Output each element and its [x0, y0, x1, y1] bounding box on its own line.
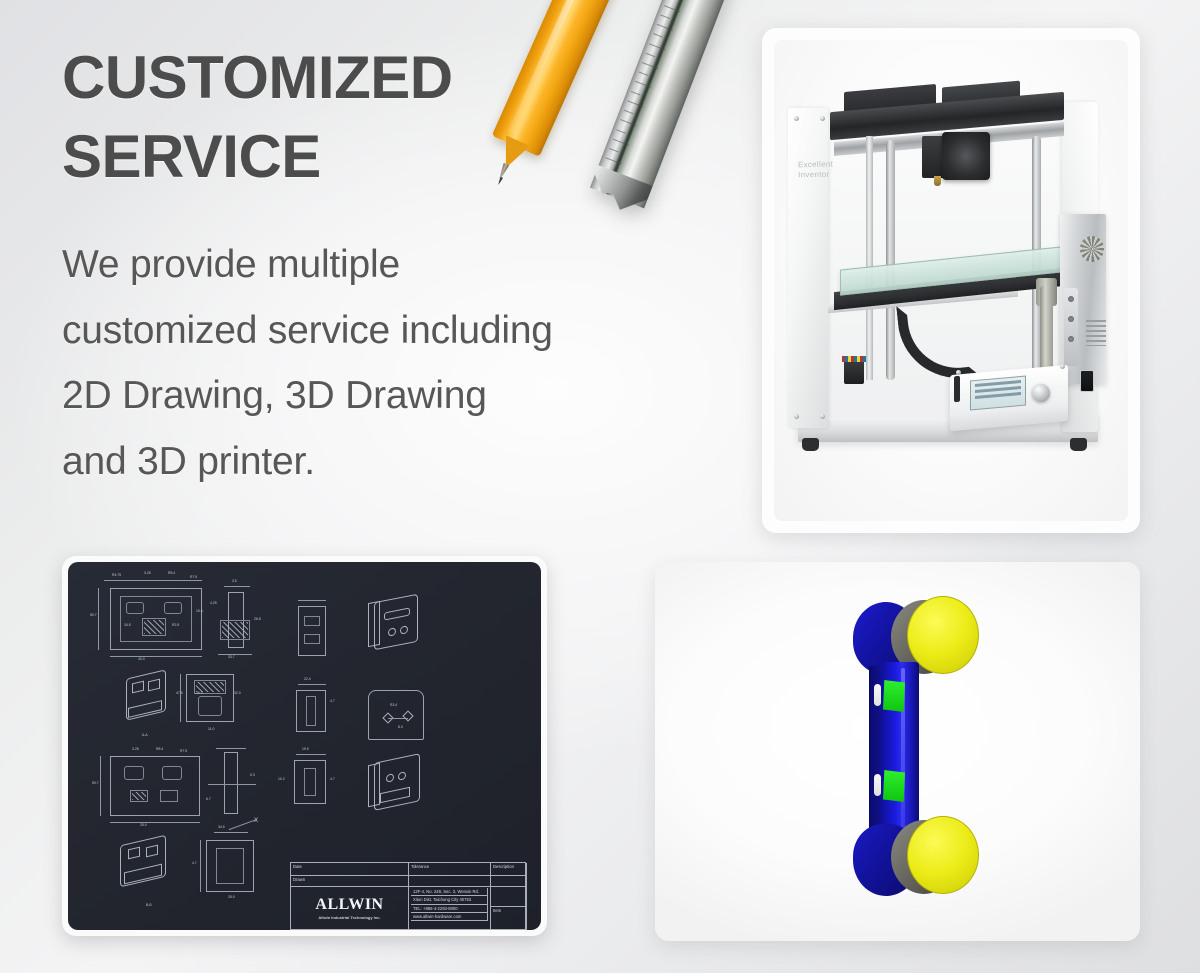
printer-screw	[1060, 364, 1065, 369]
cad-dim-text: R2.5	[172, 624, 179, 627]
cad-dim-text: 34.5	[218, 826, 225, 829]
cad-dim-text: R5.4	[156, 748, 163, 751]
body-line-4: and 3D printer.	[62, 429, 752, 495]
cad-dim-text: 5.3	[250, 774, 255, 777]
printer-extrusion-left	[866, 136, 873, 380]
cad-axis-line	[229, 819, 258, 830]
printer-nozzle	[934, 176, 941, 186]
power-switch-icon[interactable]	[1080, 370, 1094, 392]
cad-sheet: R4.75 3.25 R5.4 R7.5 50.7 34.5 R2.5 40.0…	[68, 562, 541, 930]
cad-iso-face	[368, 763, 380, 808]
cad-view-front	[110, 756, 200, 816]
cad-dim-line	[100, 756, 101, 816]
printer-screw	[956, 370, 961, 375]
printer-cooling-fan	[942, 132, 990, 180]
cad-dim-text: 11.0	[208, 728, 214, 731]
cad-slot	[304, 768, 316, 796]
part-clip-green-bottom	[883, 770, 905, 802]
part-slot-top	[874, 684, 881, 706]
cad-detail	[216, 848, 244, 884]
cad-dim-text: 50.7	[90, 614, 97, 617]
fan-grille-icon	[1080, 236, 1104, 262]
cad-dim-text: 34.5	[124, 624, 131, 627]
printer-psu-port	[1068, 316, 1074, 322]
printer-stepper-motor	[844, 360, 864, 384]
cad-dim-line	[180, 674, 181, 722]
cad-dim-text: 33.7	[228, 656, 235, 659]
cad-dim-text: 3.5	[232, 580, 237, 583]
body-line-1: We provide multiple	[62, 232, 752, 298]
cad-dim-text: 3.25	[132, 748, 139, 751]
cad-view-label: A-A	[142, 734, 148, 737]
printer-wiring	[842, 356, 866, 362]
address-line-4: www.allwin-hardware.com	[411, 913, 488, 921]
cad-dim-text: 47.5	[176, 692, 183, 695]
cad-dim-text: R7.5	[180, 750, 187, 753]
cad-detail	[160, 790, 178, 802]
part-clip-green-top	[883, 680, 905, 712]
cad-dim-text: 15.6	[196, 610, 203, 613]
render-3d-card	[655, 562, 1140, 941]
printer-screw	[794, 414, 799, 419]
printer-screw	[820, 116, 825, 121]
cad-dim-line	[388, 718, 408, 719]
cad-dim-text: 22.4	[304, 678, 311, 681]
cad-detail	[198, 696, 222, 716]
cad-dim-text: 4.7	[330, 700, 335, 703]
cad-dim-text: 40.0	[138, 658, 145, 661]
address-line-1: 12F-4, No. 249, Sec. 3, Wenxin Rd.	[411, 888, 488, 896]
titleblock-field-date: Date	[291, 863, 409, 876]
cad-dim-line	[208, 784, 256, 785]
titleblock-blank-2	[491, 876, 527, 887]
titleblock-field-drawn: Drawn	[291, 876, 409, 887]
cad-dim-text: 25.0	[228, 896, 235, 899]
cad-dim-text: R7.5	[190, 576, 197, 579]
printer-vent-slots	[1086, 320, 1106, 346]
cad-pocket	[126, 602, 144, 614]
cad-dim-line	[110, 822, 200, 823]
sd-card-slot-icon[interactable]	[954, 376, 960, 403]
cad-dim-line	[200, 840, 201, 892]
cad-dim-line	[216, 748, 246, 749]
cad-dim-text: R4.75	[112, 574, 121, 577]
cad-dim-text: R3.4	[390, 704, 397, 707]
printer-z-rod-left	[886, 140, 895, 380]
pen-nib	[497, 177, 503, 186]
printer-lcd-screen	[970, 376, 1026, 411]
printer-screw	[820, 414, 825, 419]
body-line-2: customized service including	[62, 298, 752, 364]
cad-dim-text: 6.7	[206, 798, 211, 801]
cad-section-hatch	[132, 792, 146, 800]
cad-dim-text: 26.8	[254, 618, 261, 621]
cad-dim-text: 3.25	[144, 572, 151, 575]
cad-pocket	[164, 602, 182, 614]
titleblock-field-description: Description	[491, 863, 527, 876]
printer-left-panel	[788, 108, 828, 428]
cad-dim-text: 19.5	[302, 748, 309, 751]
cad-dim-text: 8.0	[398, 726, 403, 729]
cad-pocket	[162, 766, 182, 780]
titleblock-blank-3	[491, 887, 527, 907]
printer-photo: Excellent Inventor	[774, 40, 1128, 521]
body-copy: We provide multiple customized service i…	[62, 232, 752, 494]
printer-brand-line-1: Excellent	[798, 160, 832, 171]
cad-dim-line	[218, 654, 252, 655]
cad-view-plan	[298, 606, 326, 656]
cad-dim-text: 4.25	[210, 602, 217, 605]
cad-dim-line	[98, 588, 99, 650]
cad-section-hatch	[222, 622, 248, 638]
cad-dim-line	[298, 600, 326, 601]
cad-slot	[306, 696, 316, 726]
cad-dim-text: 4.7	[330, 778, 335, 781]
part-disc-yellow-bottom	[907, 816, 979, 894]
cad-title-block: Date Tolerance Description Drawn ALLWIN …	[290, 862, 526, 930]
cad-dim-line	[110, 656, 202, 657]
address-line-2: Xitun Dist. Taichung City 40753	[411, 896, 488, 904]
printer-foot-right	[1070, 438, 1087, 451]
customized-service-banner: CUSTOMIZED SERVICE We provide multiple c…	[0, 0, 1200, 973]
printer-foot-left	[802, 438, 819, 451]
cad-dim-line	[224, 586, 250, 587]
cad-dim-line	[104, 580, 202, 581]
printer-psu-port	[1068, 296, 1074, 302]
titleblock-field-item: Item	[491, 907, 527, 930]
cad-dim-text: 25.0	[140, 824, 147, 827]
titleblock-field-tolerance: Tolerance	[409, 863, 491, 876]
body-line-3: 2D Drawing, 3D Drawing	[62, 363, 752, 429]
printer-screw	[794, 116, 799, 121]
cad-view-outline	[368, 690, 424, 740]
cad-dim-text: 4.7	[192, 862, 197, 865]
address-line-3: TEL: +886-4-2293-8000	[411, 905, 488, 913]
titleblock-company-logo: ALLWIN Allwin Industrial Technology Inc.	[291, 887, 409, 930]
cad-dim-text: R5.4	[168, 572, 175, 575]
cad-iso-view	[374, 594, 418, 651]
cad-dim-text: 32.0	[234, 692, 241, 695]
printer-control-knob[interactable]	[1032, 384, 1050, 402]
printer-photo-card: Excellent Inventor	[762, 28, 1140, 533]
cad-drawing-card: R4.75 3.25 R5.4 R7.5 50.7 34.5 R2.5 40.0…	[62, 556, 547, 936]
titleblock-address: 12F-4, No. 249, Sec. 3, Wenxin Rd. Xitun…	[409, 887, 491, 930]
cad-view-side	[224, 752, 238, 814]
cad-dim-text: 50.7	[92, 782, 99, 785]
printer-z-screw	[1040, 286, 1053, 370]
cad-dim-text: 10.2	[278, 778, 285, 781]
cad-dim-line	[296, 754, 326, 755]
printer-brand-label: Excellent Inventor	[798, 160, 832, 181]
cad-dim-line	[214, 832, 248, 833]
cad-section-hatch	[144, 620, 164, 634]
cad-pocket	[124, 766, 144, 780]
cad-view-label: B-B	[146, 904, 152, 907]
printer-psu-port	[1068, 336, 1074, 342]
render-3d-viewport	[655, 562, 1140, 941]
cad-slot	[304, 634, 320, 644]
part-slot-bottom	[874, 774, 881, 796]
titleblock-blank-1	[409, 876, 491, 887]
cad-iso-face	[368, 601, 380, 647]
company-name: ALLWIN	[315, 897, 383, 913]
cad-slot	[304, 616, 320, 626]
cad-dim-text: 36.0	[196, 692, 203, 695]
company-subtitle: Allwin Industrial Technology Inc.	[318, 915, 380, 920]
printer-brand-line-2: Inventor	[798, 170, 832, 181]
cad-dim-line	[298, 684, 326, 685]
